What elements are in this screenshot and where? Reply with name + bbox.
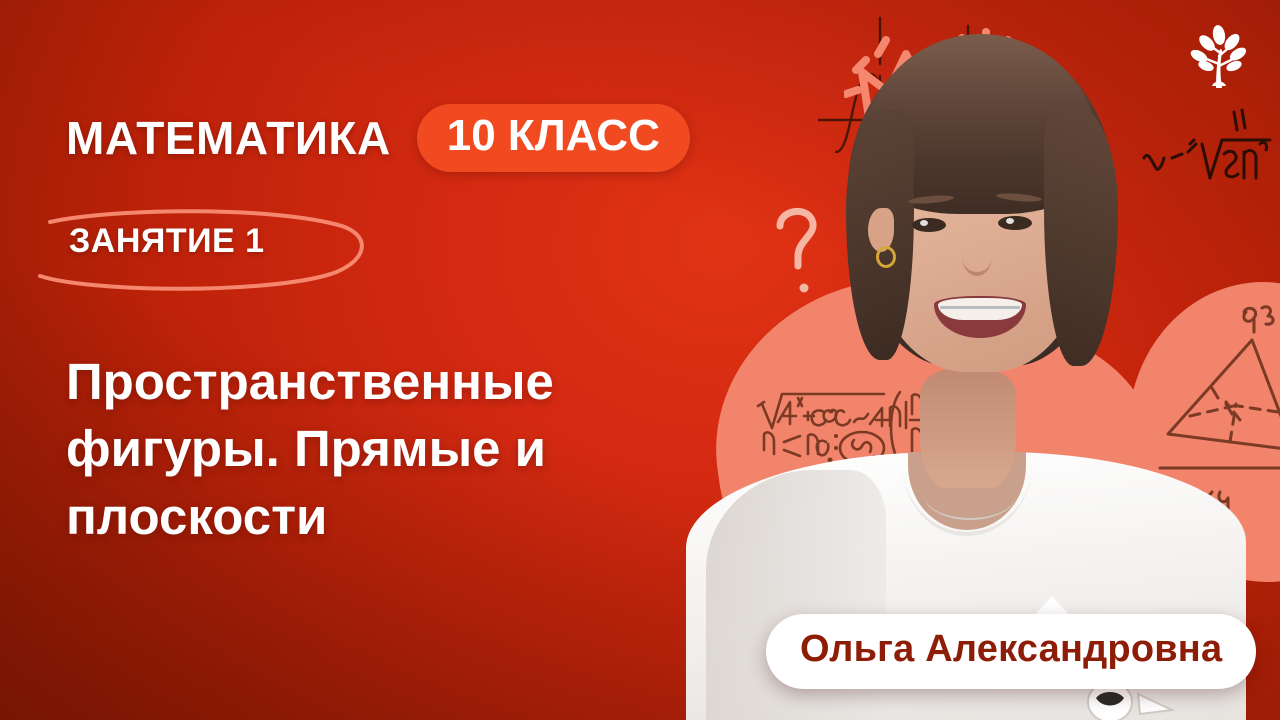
necklace-icon (924, 470, 1016, 520)
presenter-ear (868, 208, 894, 252)
eye-highlight (920, 220, 928, 226)
grade-badge: 10 КЛАСС (417, 104, 690, 172)
subject-row: МАТЕМАТИКА 10 КЛАСС (66, 104, 690, 172)
presenter-hair-right (1044, 104, 1118, 366)
lesson-number-group: ЗАНЯТИЕ 1 (24, 200, 374, 292)
presenter-eye (912, 218, 946, 232)
lesson-number-label: ЗАНЯТИЕ 1 (69, 222, 265, 261)
presenter-nose (962, 238, 992, 276)
earring-icon (876, 246, 896, 268)
tree-logo-icon (1186, 22, 1252, 92)
subject-label: МАТЕМАТИКА (66, 111, 391, 165)
title-block: МАТЕМАТИКА 10 КЛАСС ЗАНЯТИЕ 1 Пространст… (0, 0, 780, 720)
braces-icon (940, 306, 1020, 309)
presenter-name-label: Ольга Александровна (800, 628, 1222, 671)
video-thumbnail: МАТЕМАТИКА 10 КЛАСС ЗАНЯТИЕ 1 Пространст… (0, 0, 1280, 720)
presenter-teeth (938, 298, 1022, 320)
presenter-eye (998, 216, 1032, 230)
presenter-name-badge: Ольга Александровна (766, 614, 1256, 689)
eye-highlight (1006, 218, 1014, 224)
lesson-title: Пространственные фигуры. Прямые и плоско… (66, 348, 706, 550)
